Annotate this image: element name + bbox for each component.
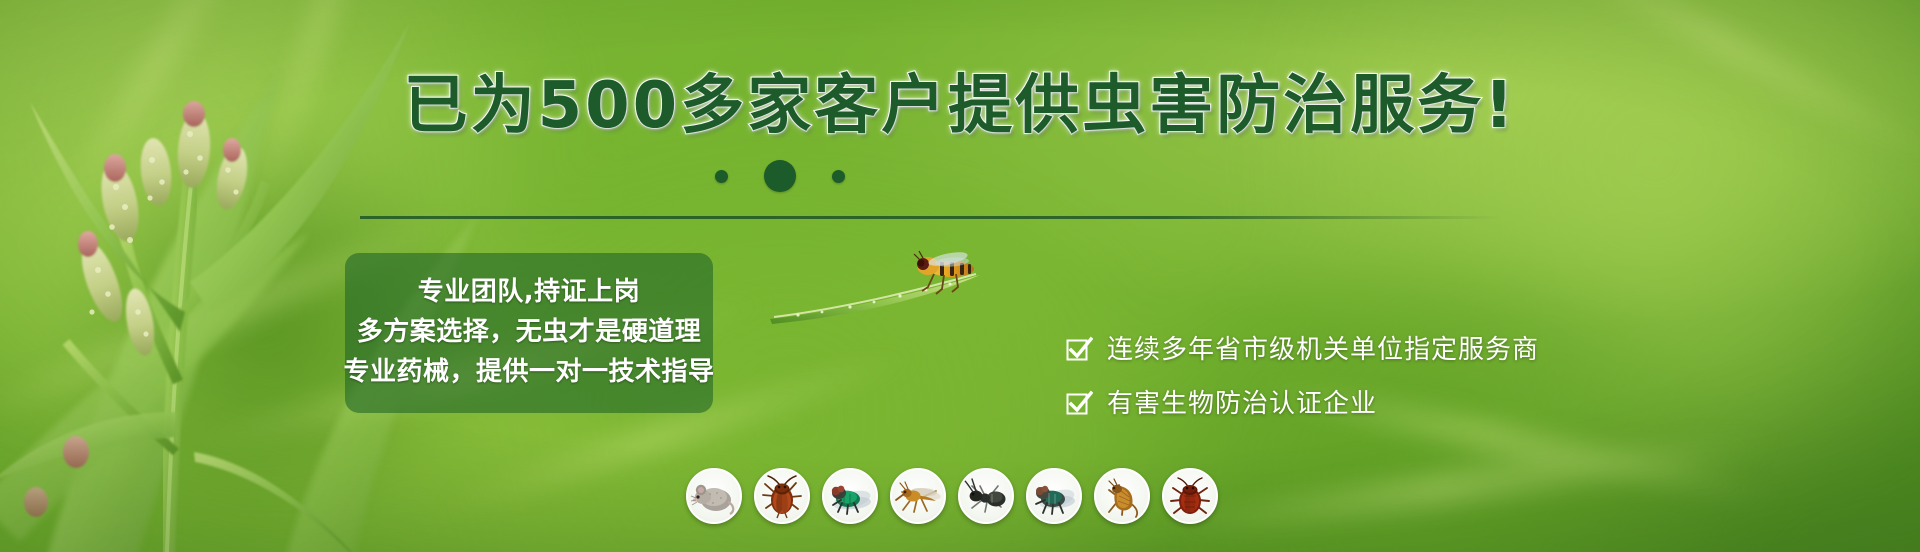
horizontal-divider <box>360 216 1500 219</box>
bullet-text: 连续多年省市级机关单位指定服务商 <box>1107 336 1539 364</box>
promo-line-3: 专业药械，提供一对一技术指导 <box>344 356 715 388</box>
certification-bullet-list: 连续多年省市级机关单位指定服务商 有害生物防治认证企业 <box>1065 336 1539 418</box>
blowfly-icon <box>826 472 874 520</box>
pest-icon-housefly[interactable] <box>1026 468 1082 524</box>
pest-control-banner: 已为500多家客户提供虫害防治服务! 专业团队,持证上岗 多方案选择，无虫才是硬… <box>0 0 1920 552</box>
cockroach-icon <box>758 472 806 520</box>
pest-icon-row <box>686 468 1218 524</box>
pest-icon-cockroach[interactable] <box>754 468 810 524</box>
dot-small-right <box>832 170 845 183</box>
bullet-text: 有害生物防治认证企业 <box>1107 390 1377 418</box>
bullet-item: 连续多年省市级机关单位指定服务商 <box>1065 336 1539 364</box>
promo-line-1: 专业团队,持证上岗 <box>418 276 640 308</box>
checkbox-check-icon <box>1065 336 1093 364</box>
pest-icon-ant[interactable] <box>958 468 1014 524</box>
bullet-item: 有害生物防治认证企业 <box>1065 390 1539 418</box>
flea-icon <box>1098 472 1146 520</box>
banner-headline: 已为500多家客户提供虫害防治服务! <box>0 74 1920 138</box>
checkbox-check-icon <box>1065 390 1093 418</box>
dot-large-center <box>764 160 796 192</box>
ant-icon <box>962 472 1010 520</box>
promo-message-box: 专业团队,持证上岗 多方案选择，无虫才是硬道理 专业药械，提供一对一技术指导 <box>345 253 713 413</box>
dot-small-left <box>715 170 728 183</box>
bedbug-icon <box>1166 472 1214 520</box>
promo-line-2: 多方案选择，无虫才是硬道理 <box>357 316 702 348</box>
decorative-dot-group <box>715 158 845 194</box>
pest-icon-mouse[interactable] <box>686 468 742 524</box>
pest-icon-blowfly[interactable] <box>822 468 878 524</box>
housefly-icon <box>1030 472 1078 520</box>
pest-icon-bedbug[interactable] <box>1162 468 1218 524</box>
mouse-icon <box>690 472 738 520</box>
pest-icon-flea[interactable] <box>1094 468 1150 524</box>
mosquito-icon <box>894 472 942 520</box>
pest-icon-mosquito[interactable] <box>890 468 946 524</box>
